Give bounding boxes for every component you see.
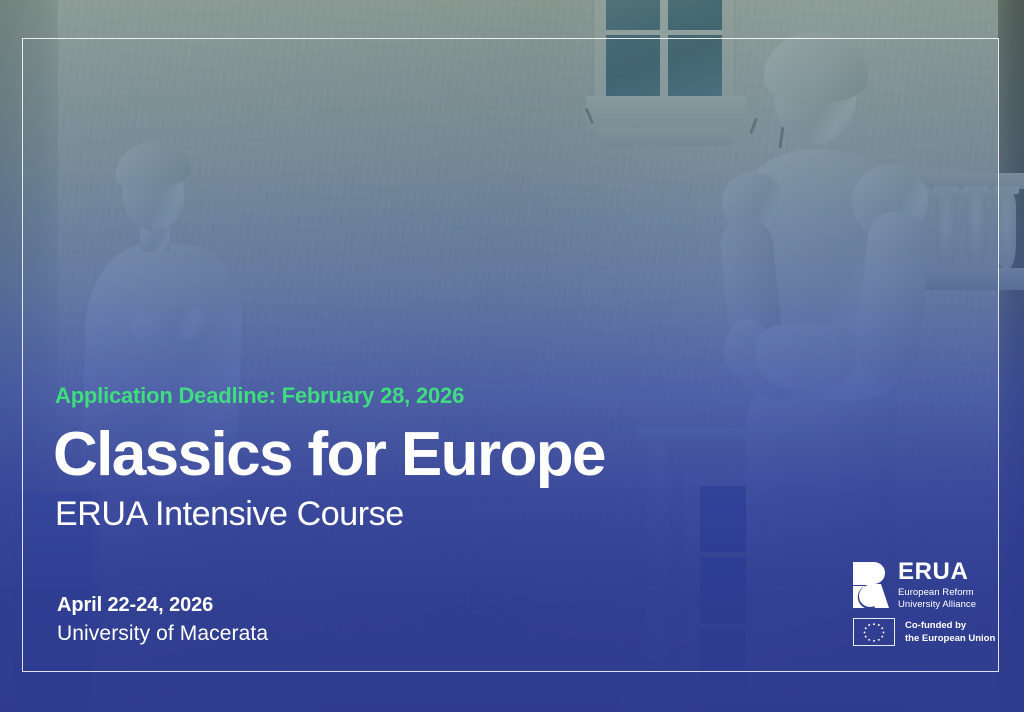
eu-funding-line1: Co-funded by <box>905 620 995 633</box>
eu-funding-badge: Co-funded by the European Union <box>853 618 999 648</box>
page-title: Classics for Europe <box>53 424 605 486</box>
eu-funding-text: Co-funded by the European Union <box>905 620 995 645</box>
application-deadline: Application Deadline: February 28, 2026 <box>55 383 464 409</box>
erua-tagline-line2: University Alliance <box>898 599 976 611</box>
erua-logo: ERUA European Reform University Alliance <box>853 562 993 614</box>
erua-logo-text: ERUA European Reform University Alliance <box>898 560 976 610</box>
poster-content: Application Deadline: February 28, 2026 … <box>0 0 1024 712</box>
poster-canvas: Application Deadline: February 28, 2026 … <box>0 0 1024 712</box>
erua-r-monogram-icon <box>853 562 889 608</box>
erua-tagline: European Reform University Alliance <box>898 587 976 610</box>
eu-flag-icon <box>853 618 895 646</box>
page-subtitle: ERUA Intensive Course <box>55 497 404 531</box>
erua-tagline-line1: European Reform <box>898 587 976 599</box>
erua-wordmark: ERUA <box>898 560 976 584</box>
eu-funding-line2: the European Union <box>905 633 995 646</box>
event-venue: University of Macerata <box>57 622 268 646</box>
event-dates: April 22-24, 2026 <box>57 594 213 617</box>
